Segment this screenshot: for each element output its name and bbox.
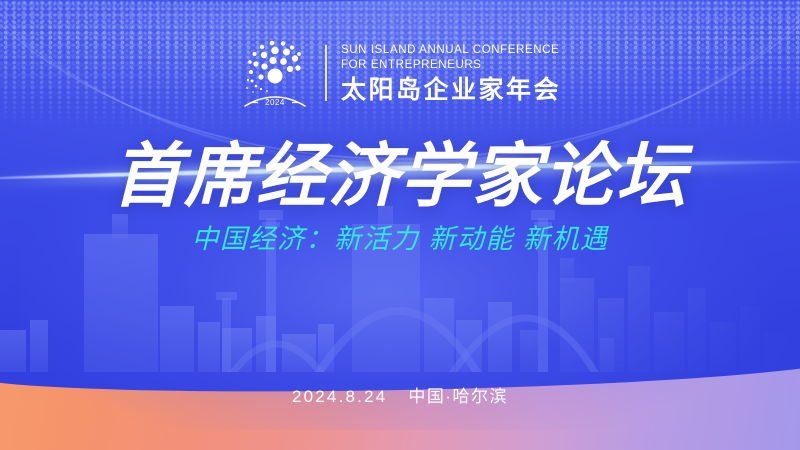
subtitle-theme: 中国经济：新活力 新动能 新机遇 (0, 226, 800, 253)
event-location: 中国·哈尔滨 (408, 387, 508, 406)
chinese-org-name: 太阳岛企业家年会 (341, 78, 561, 103)
lockup-divider (325, 45, 327, 101)
logo-year-text: 2024 (265, 98, 285, 107)
english-title-line1: SUN ISLAND ANNUAL CONFERENCE (341, 43, 561, 58)
logo-lockup: 2024 SUN ISLAND ANNUAL CONFERENCE FOR EN… (239, 36, 561, 110)
lockup-text-block: SUN ISLAND ANNUAL CONFERENCE FOR ENTREPR… (341, 43, 561, 103)
english-title-line2: FOR ENTREPRENEURS (341, 58, 561, 73)
conference-banner: 2024 SUN ISLAND ANNUAL CONFERENCE FOR EN… (0, 0, 800, 450)
english-title-block: SUN ISLAND ANNUAL CONFERENCE FOR ENTREPR… (341, 43, 561, 72)
main-headline: 首席经济学家论坛 (0, 141, 800, 211)
event-date: 2024.8.24 (292, 387, 387, 406)
sun-island-radiating-dots-logo-icon: 2024 (239, 36, 311, 110)
footer-info: 2024.8.24 中国·哈尔滨 (0, 382, 800, 407)
